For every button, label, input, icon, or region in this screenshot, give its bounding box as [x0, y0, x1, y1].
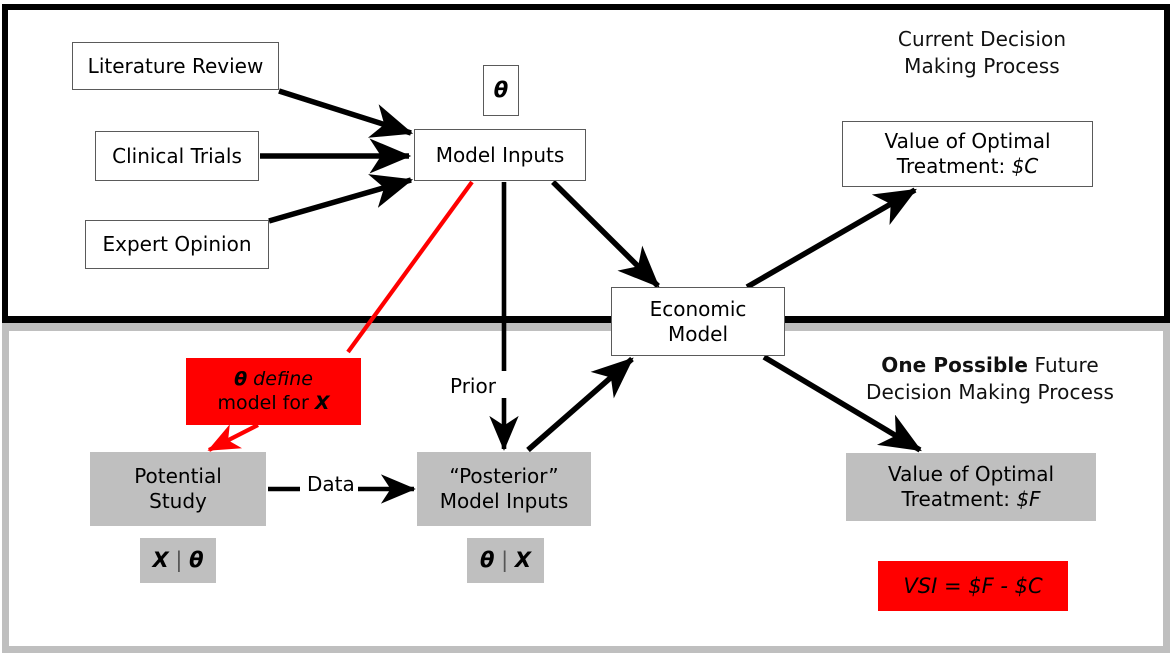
node-theta-given-x[interactable]: θ | X [467, 538, 544, 583]
node-value-c-amount: $C [1012, 154, 1039, 178]
node-literature-review-label: Literature Review [88, 54, 264, 79]
node-theta-label: θ [494, 77, 508, 103]
node-x-given-theta-x: X [152, 548, 168, 572]
node-economic-model-line1: Economic [650, 297, 747, 322]
node-x-given-theta-bar: | [169, 548, 189, 572]
node-potential-study-line1: Potential [134, 464, 222, 489]
node-posterior-line2: Model Inputs [440, 489, 569, 514]
node-value-f-amount: $F [1016, 487, 1040, 511]
node-potential-study-text: Potential Study [134, 464, 222, 514]
node-theta-given-x-text: θ | X [480, 547, 531, 573]
node-theta-defines-verb: define [247, 368, 313, 390]
node-potential-study[interactable]: Potential Study [90, 452, 266, 526]
edge-inputs-to-theta-define [348, 182, 472, 352]
diagram-canvas: Current Decision Making Process One Poss… [0, 0, 1172, 660]
node-theta-given-x-x: X [515, 548, 531, 572]
node-expert-opinion[interactable]: Expert Opinion [85, 220, 269, 269]
node-theta-defines-prefix: model for [217, 392, 314, 414]
edge-expert-to-inputs [269, 180, 411, 221]
edge-posterior-to-economic [528, 359, 632, 450]
node-expert-opinion-label: Expert Opinion [102, 232, 251, 257]
node-literature-review[interactable]: Literature Review [72, 42, 279, 90]
node-theta-defines-text: θ define model for X [217, 368, 329, 416]
node-theta-defines-line2: model for X [217, 392, 329, 416]
node-theta-given-x-theta: θ [480, 548, 494, 572]
node-theta-defines-model-for-x[interactable]: θ define model for X [186, 358, 361, 425]
node-model-inputs-label: Model Inputs [436, 143, 565, 168]
edge-economic-to-value-f [764, 357, 920, 450]
node-x-given-theta[interactable]: X | θ [140, 538, 216, 583]
edge-economic-to-value-c [747, 190, 915, 287]
edge-theta-define-to-potential [209, 425, 258, 450]
node-value-optimal-treatment-f[interactable]: Value of Optimal Treatment: $F [846, 453, 1096, 521]
node-value-f-prefix: Treatment: [901, 487, 1016, 511]
node-value-c-text: Value of Optimal Treatment: $C [884, 129, 1050, 179]
node-value-c-line2: Treatment: $C [884, 154, 1050, 179]
edge-label-prior: Prior [447, 374, 499, 398]
node-posterior-text: “Posterior” Model Inputs [440, 464, 569, 514]
node-value-optimal-treatment-c[interactable]: Value of Optimal Treatment: $C [842, 121, 1093, 187]
edge-inputs-to-economic [553, 182, 658, 286]
node-vsi-formula[interactable]: VSI = $F - $C [878, 561, 1068, 611]
node-posterior-line1: “Posterior” [440, 464, 569, 489]
node-x-given-theta-text: X | θ [152, 547, 203, 573]
node-theta-defines-line1: θ define [217, 368, 329, 392]
node-economic-model-text: Economic Model [650, 297, 747, 347]
edge-label-data: Data [304, 472, 358, 496]
node-value-c-prefix: Treatment: [897, 154, 1012, 178]
node-theta[interactable]: θ [483, 65, 519, 116]
node-x-given-theta-theta: θ [189, 548, 203, 572]
node-economic-model[interactable]: Economic Model [611, 287, 785, 356]
node-potential-study-line2: Study [134, 489, 222, 514]
edge-literature-to-inputs [279, 91, 411, 133]
node-posterior-model-inputs[interactable]: “Posterior” Model Inputs [417, 452, 591, 526]
node-vsi-label: VSI = $F - $C [903, 573, 1042, 599]
node-economic-model-line2: Model [650, 322, 747, 347]
node-value-c-line1: Value of Optimal [884, 129, 1050, 154]
node-model-inputs[interactable]: Model Inputs [414, 129, 586, 181]
node-value-f-text: Value of Optimal Treatment: $F [888, 462, 1054, 512]
node-clinical-trials-label: Clinical Trials [112, 144, 242, 169]
node-value-f-line2: Treatment: $F [888, 487, 1054, 512]
node-value-f-line1: Value of Optimal [888, 462, 1054, 487]
node-theta-given-x-bar: | [494, 548, 514, 572]
node-theta-defines-x: X [315, 392, 330, 414]
node-clinical-trials[interactable]: Clinical Trials [95, 131, 259, 181]
node-theta-defines-theta: θ [234, 368, 247, 390]
